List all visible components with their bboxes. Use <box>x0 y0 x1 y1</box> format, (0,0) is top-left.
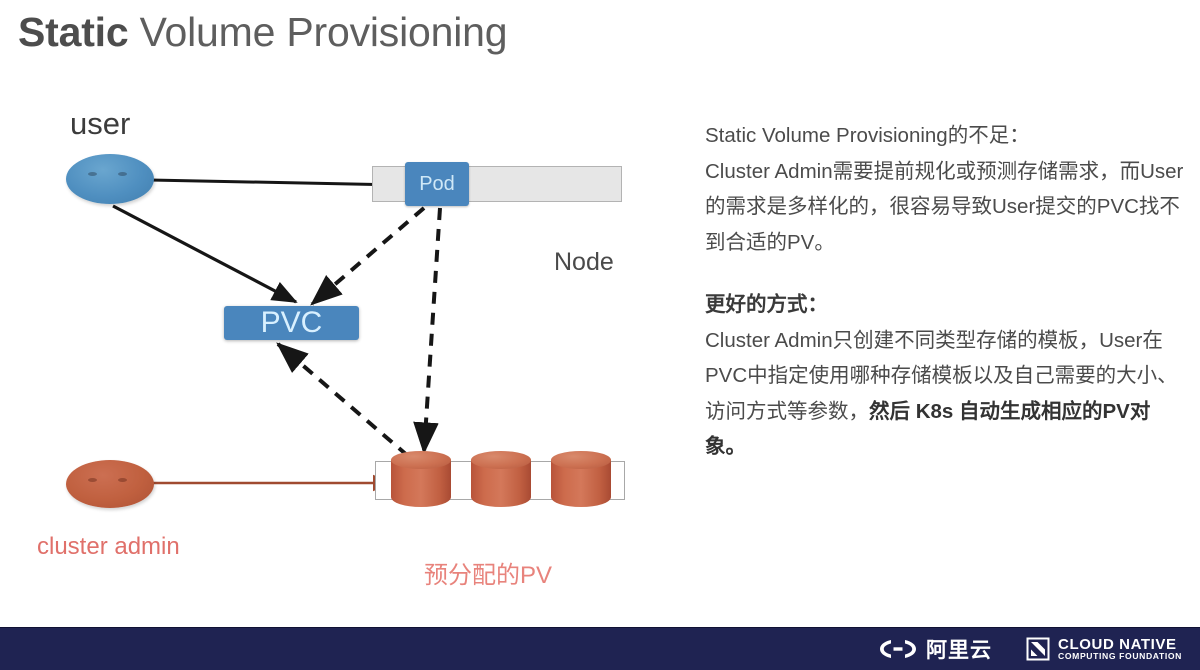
cluster-admin-label: cluster admin <box>37 533 180 561</box>
shortcomings-heading: Static Volume Provisioning的不足： <box>705 118 1185 154</box>
pv-cylinder-top <box>471 451 531 469</box>
arrow-user-to-pvc <box>113 206 296 302</box>
arrow-pod-to-pvc <box>312 208 424 304</box>
cluster-admin-avatar <box>66 460 154 508</box>
cncf-wordmark-line2: COMPUTING FOUNDATION <box>1058 652 1182 661</box>
better-way-heading: 更好的方式： <box>705 287 1185 323</box>
pv-cylinder <box>471 451 531 509</box>
pv-cylinder <box>551 451 611 509</box>
user-label: user <box>70 106 130 142</box>
pv-cylinder-top <box>551 451 611 469</box>
cncf-wordmark-line1: CLOUD NATIVE <box>1058 637 1182 653</box>
page-title-rest: Volume Provisioning <box>128 9 507 55</box>
cncf-logo: CLOUD NATIVE COMPUTING FOUNDATION <box>1026 637 1182 662</box>
aliyun-wordmark: 阿里云 <box>926 634 992 664</box>
pv-cylinder-top <box>391 451 451 469</box>
footer-logos: 阿里云 CLOUD NATIVE COMPUTING FOUNDATION <box>878 628 1182 670</box>
arrow-user-to-pod <box>150 180 404 185</box>
pod-box[interactable]: Pod <box>405 162 469 206</box>
preallocated-pv-label: 预分配的PV <box>424 555 552 590</box>
pvc-box[interactable]: PVC <box>224 306 359 340</box>
architecture-diagram: user Pod Node PVC cluster admin 预分配的PV <box>0 90 680 600</box>
admin-eye-left-icon <box>88 478 97 482</box>
paragraph-spacer <box>705 260 1185 287</box>
arrow-pv-to-pvc <box>278 344 408 456</box>
user-eye-right-icon <box>118 172 127 176</box>
cncf-mark-icon <box>1026 637 1050 661</box>
page-title-bold: Static <box>18 9 128 55</box>
aliyun-logo: 阿里云 <box>878 634 992 664</box>
admin-eye-right-icon <box>118 478 127 482</box>
arrow-pod-to-pv <box>424 208 440 452</box>
user-avatar <box>66 154 154 204</box>
explanation-text-column: Static Volume Provisioning的不足： Cluster A… <box>705 118 1185 465</box>
cncf-wordmark: CLOUD NATIVE COMPUTING FOUNDATION <box>1058 637 1182 662</box>
user-eye-left-icon <box>88 172 97 176</box>
shortcomings-body: Cluster Admin需要提前规化或预测存储需求，而User的需求是多样化的… <box>705 154 1185 261</box>
better-way-body: Cluster Admin只创建不同类型存储的模板，User在PVC中指定使用哪… <box>705 323 1185 465</box>
pv-cylinder <box>391 451 451 509</box>
node-label: Node <box>554 248 614 277</box>
footer-bar: 阿里云 CLOUD NATIVE COMPUTING FOUNDATION <box>0 627 1200 670</box>
aliyun-mark-icon <box>878 638 918 660</box>
page-title: Static Volume Provisioning <box>18 6 507 58</box>
